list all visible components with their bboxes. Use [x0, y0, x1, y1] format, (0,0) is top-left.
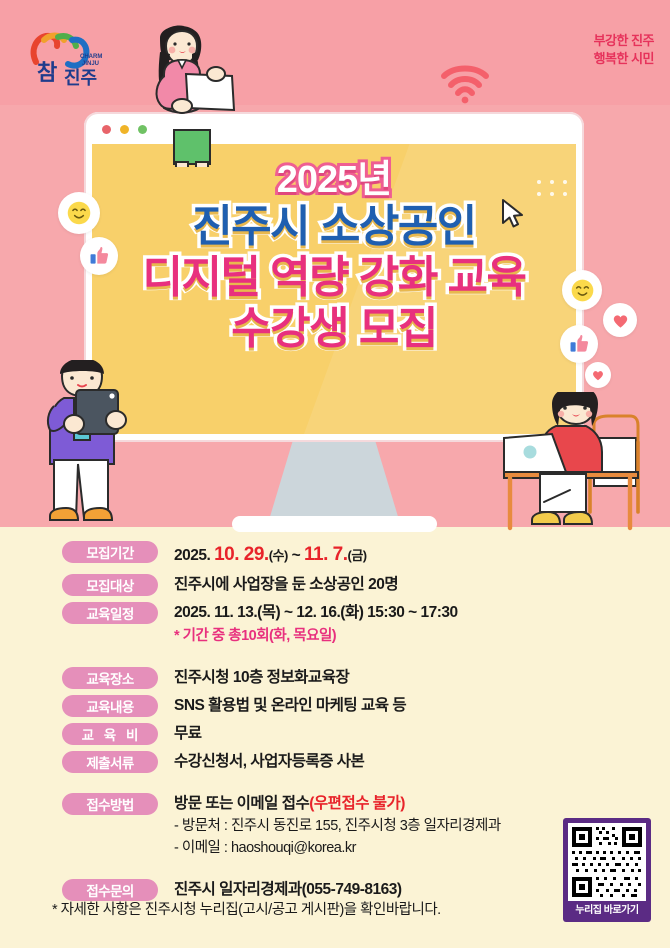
- info-row-fee: 교 육 비 무료: [0, 722, 670, 746]
- label-documents: 제출서류: [62, 751, 158, 773]
- row-gap: [0, 652, 670, 666]
- woman-at-desk-with-laptop-illustration: [490, 392, 670, 537]
- smiley-face-icon: [58, 192, 100, 234]
- qr-code-label: 누리집 바로가기: [568, 901, 646, 921]
- page-title: 2025년 진주시 소상공인 디지털 역량 강화 교육 수강생 모집: [84, 160, 584, 352]
- decorative-dot-grid: [537, 180, 571, 202]
- slogan-line-2: 행복한 시민: [594, 50, 654, 68]
- value-content: SNS 활용법 및 온라인 마케팅 교육 등: [174, 694, 406, 718]
- value-documents: 수강신청서, 사업자등록증 사본: [174, 750, 364, 774]
- label-venue: 교육장소: [62, 667, 158, 689]
- period-sep: ~: [288, 547, 304, 564]
- window-close-dot: [102, 125, 111, 134]
- value-target: 진주시에 사업장을 둔 소상공인 20명: [174, 573, 398, 597]
- title-line-3: 디지털 역량 강화 교육: [84, 254, 584, 301]
- apply-sub-visit: - 방문처 : 진주시 동진로 155, 진주시청 3층 일자리경제과: [174, 816, 501, 838]
- smiley-face-icon-right: [562, 270, 602, 310]
- row-gap-2: [0, 778, 670, 792]
- label-schedule: 교육일정: [62, 602, 158, 624]
- apply-main: 방문 또는 이메일 접수: [174, 795, 309, 812]
- girl-holding-paper-illustration: [140, 22, 240, 172]
- info-row-target: 모집대상 진주시에 사업장을 둔 소상공인 20명: [0, 573, 670, 597]
- wifi-icon: [440, 62, 490, 104]
- logo-sub-charm: CHARM: [80, 54, 102, 60]
- poster-root: 참 진주 CHARM JINJU 부강한 진주 행복한 시민 20: [0, 0, 670, 948]
- info-row-content: 교육내용 SNS 활용법 및 온라인 마케팅 교육 등: [0, 694, 670, 718]
- apply-sub-email: - 이메일 : haoshouqi@korea.kr: [174, 838, 501, 860]
- info-row-documents: 제출서류 수강신청서, 사업자등록증 사본: [0, 750, 670, 774]
- title-line-4: 수강생 모집: [84, 305, 584, 352]
- label-content: 교육내용: [62, 695, 158, 717]
- value-application-method-wrap: 방문 또는 이메일 접수(우편접수 불가) - 방문처 : 진주시 동진로 15…: [174, 792, 501, 860]
- heart-icon-1: [603, 303, 637, 337]
- value-schedule-note: * 기간 중 총10회(화, 목요일): [174, 625, 458, 647]
- svg-text:진주: 진주: [64, 68, 97, 88]
- value-schedule: 2025. 11. 13.(목) ~ 12. 16.(화) 15:30 ~ 17…: [174, 601, 458, 625]
- value-application-method: 방문 또는 이메일 접수(우편접수 불가): [174, 792, 501, 816]
- period-date-1: 10. 29.: [214, 544, 269, 565]
- label-fee: 교 육 비: [62, 723, 158, 745]
- man-with-tablet-illustration: [20, 360, 150, 535]
- label-recruit-period: 모집기간: [62, 541, 158, 563]
- label-application-method: 접수방법: [62, 793, 158, 815]
- label-target: 모집대상: [62, 574, 158, 596]
- footnote: * 자세한 사항은 진주시청 누리집(고시/공고 게시판)을 확인바랍니다.: [52, 898, 441, 919]
- logo-sub-jinju: JINJU: [82, 61, 99, 67]
- thumbs-up-icon: [80, 237, 118, 275]
- period-date-2: 11. 7.: [304, 544, 348, 565]
- period-day-2: (금): [348, 548, 367, 563]
- value-venue: 진주시청 10층 정보화교육장: [174, 666, 349, 690]
- info-row-venue: 교육장소 진주시청 10층 정보화교육장: [0, 666, 670, 690]
- window-minimize-dot: [120, 125, 129, 134]
- value-recruit-period: 2025. 10. 29.(수) ~ 11. 7.(금): [174, 540, 367, 569]
- jinju-city-logo: 참 진주 CHARM JINJU: [24, 28, 110, 90]
- monitor-stand-base: [232, 516, 437, 532]
- slogan-line-1: 부강한 진주: [594, 32, 654, 50]
- cursor-arrow-icon: [500, 198, 526, 230]
- info-row-schedule: 교육일정 2025. 11. 13.(목) ~ 12. 16.(화) 15:30…: [0, 601, 670, 647]
- heart-icon-2: [585, 362, 611, 388]
- qr-code-image[interactable]: [568, 823, 646, 901]
- period-prefix: 2025.: [174, 547, 214, 564]
- value-fee: 무료: [174, 722, 202, 746]
- apply-warning: (우편접수 불가): [309, 795, 405, 812]
- thumbs-up-icon-right: [560, 325, 598, 363]
- city-slogan: 부강한 진주 행복한 시민: [594, 32, 654, 67]
- qr-code-block[interactable]: 누리집 바로가기: [563, 818, 651, 922]
- svg-text:참: 참: [37, 60, 57, 85]
- info-row-recruit-period: 모집기간 2025. 10. 29.(수) ~ 11. 7.(금): [0, 540, 670, 569]
- period-day-1: (수): [269, 548, 288, 563]
- value-schedule-wrap: 2025. 11. 13.(목) ~ 12. 16.(화) 15:30 ~ 17…: [174, 601, 458, 647]
